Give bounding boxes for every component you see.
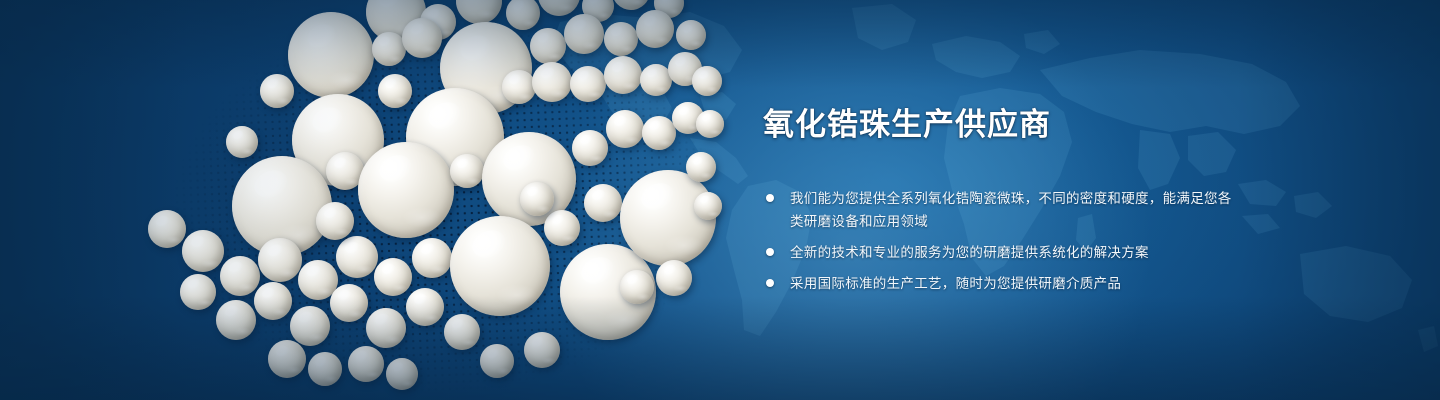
- list-item-label: 采用国际标准的生产工艺，随时为您提供研磨介质产品: [790, 276, 1121, 291]
- feature-list: 我们能为您提供全系列氧化锆陶瓷微珠，不同的密度和硬度，能满足您各类研磨设备和应用…: [763, 187, 1233, 295]
- bullet-circle-icon: [766, 279, 774, 287]
- promo-banner: 氧化锆珠生产供应商 我们能为您提供全系列氧化锆陶瓷微珠，不同的密度和硬度，能满足…: [0, 0, 1440, 400]
- bullet-circle-icon: [766, 194, 774, 202]
- page-title: 氧化锆珠生产供应商: [763, 108, 1233, 143]
- banner-copy: 氧化锆珠生产供应商 我们能为您提供全系列氧化锆陶瓷微珠，不同的密度和硬度，能满足…: [763, 108, 1233, 295]
- list-item-label: 我们能为您提供全系列氧化锆陶瓷微珠，不同的密度和硬度，能满足您各类研磨设备和应用…: [790, 191, 1232, 229]
- list-item: 全新的技术和专业的服务为您的研磨提供系统化的解决方案: [763, 241, 1233, 264]
- list-item: 采用国际标准的生产工艺，随时为您提供研磨介质产品: [763, 272, 1233, 295]
- list-item-label: 全新的技术和专业的服务为您的研磨提供系统化的解决方案: [790, 245, 1149, 260]
- list-item: 我们能为您提供全系列氧化锆陶瓷微珠，不同的密度和硬度，能满足您各类研磨设备和应用…: [763, 187, 1233, 233]
- bullet-circle-icon: [766, 248, 774, 256]
